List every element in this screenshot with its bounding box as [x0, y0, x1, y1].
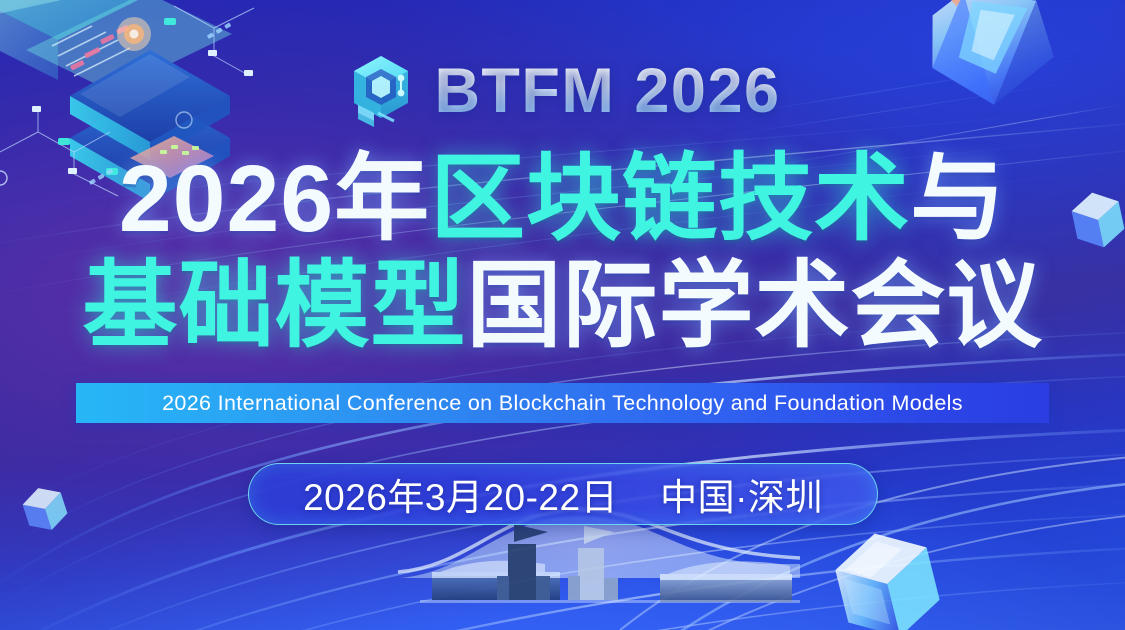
title-line-2: 基础模型国际学术会议: [0, 259, 1125, 354]
english-subtitle-text: 2026 International Conference on Blockch…: [162, 391, 963, 416]
hexagon-blockchain-cube-icon: [344, 51, 418, 133]
conference-banner: BTFM 2026 2026年区块链技术与 基础模型国际学术会议 2026 In…: [0, 0, 1125, 630]
english-subtitle-bar: 2026 International Conference on Blockch…: [76, 383, 1049, 423]
title-l2-seg-2: 国际学术会议: [467, 253, 1043, 359]
title-l1-seg-3: 与: [910, 146, 1006, 252]
brand-row: BTFM 2026: [0, 48, 1125, 134]
title-l1-seg-2: 区块链技术: [430, 146, 910, 252]
title-l2-seg-1: 基础模型: [82, 253, 466, 359]
event-meta-pill: 2026年3月20-22日 中国·深圳: [248, 463, 878, 525]
banner-content: BTFM 2026 2026年区块链技术与 基础模型国际学术会议 2026 In…: [0, 0, 1125, 630]
title-line-1: 2026年区块链技术与: [0, 152, 1125, 247]
event-date: 2026年3月20-22日: [303, 467, 618, 521]
title-l1-seg-1: 2026年: [119, 146, 430, 252]
event-location: 中国·深圳: [660, 467, 823, 521]
brand-title: BTFM 2026: [434, 60, 780, 123]
